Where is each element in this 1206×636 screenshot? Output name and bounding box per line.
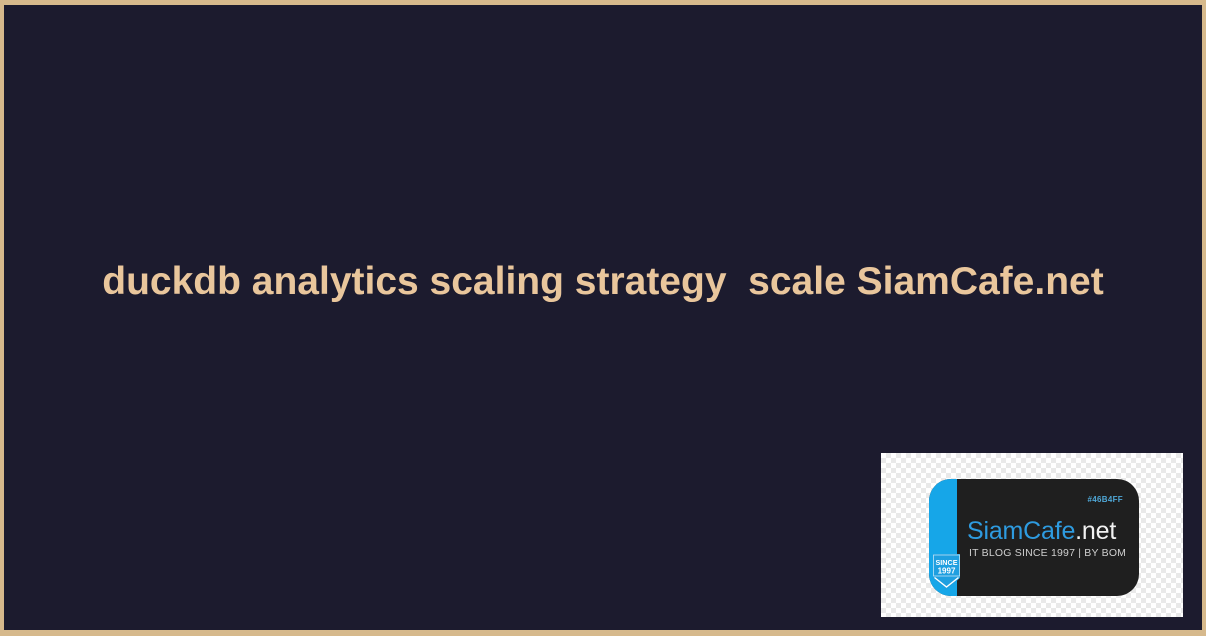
logo-image-panel: SINCE 1997 #46B4FF SiamCafe.net IT BLOG … xyxy=(881,453,1183,617)
page-title: duckdb analytics scaling strategy scale … xyxy=(4,260,1202,304)
logo-wordmark-suffix: .net xyxy=(1075,517,1116,545)
badge-line-2: 1997 xyxy=(938,567,956,576)
logo-tagline: IT BLOG SINCE 1997 | BY BOM xyxy=(969,547,1126,559)
logo-wordmark: SiamCafe.net xyxy=(967,517,1116,546)
logo-hex-color-label: #46B4FF xyxy=(1088,495,1123,504)
siamcafe-logo-card: SINCE 1997 #46B4FF SiamCafe.net IT BLOG … xyxy=(929,479,1139,596)
page-frame: duckdb analytics scaling strategy scale … xyxy=(0,0,1206,636)
content-canvas: duckdb analytics scaling strategy scale … xyxy=(4,5,1202,630)
logo-wordmark-primary: SiamCafe xyxy=(967,517,1075,545)
since-1997-badge-icon: SINCE 1997 xyxy=(931,554,962,592)
